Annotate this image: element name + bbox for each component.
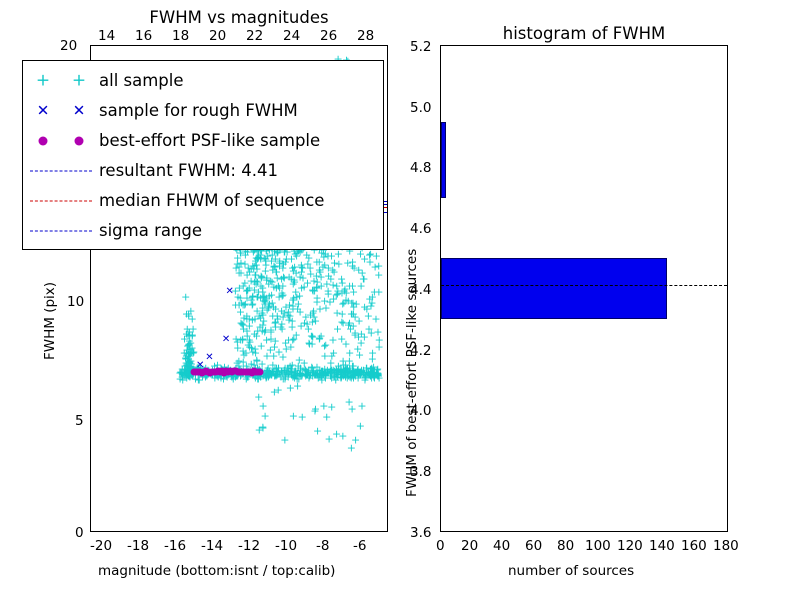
data-point: + [292, 329, 301, 340]
cross-icon: ✕ [37, 104, 50, 119]
data-point: + [239, 356, 248, 367]
data-point: + [258, 423, 267, 434]
right-x-tick-5: 100 [585, 538, 611, 554]
data-point: + [360, 253, 369, 264]
figure-canvas: FWHM vs magnitudes 14 16 18 20 22 24 26 … [0, 0, 800, 600]
dashed-line-icon [30, 201, 92, 202]
data-point: + [261, 266, 270, 277]
data-point: + [349, 361, 358, 372]
data-point: + [337, 372, 346, 383]
right-y-tick-8: 5.2 [410, 39, 431, 55]
data-point: + [289, 410, 298, 421]
data-point: + [302, 318, 311, 329]
right-y-tick-5: 4.6 [410, 221, 431, 237]
left-top-tick-3: 20 [209, 28, 226, 44]
left-y-axis-label: FWHM (pix) [42, 282, 58, 360]
dot-icon [39, 137, 48, 146]
data-point: + [288, 295, 297, 306]
data-point: + [322, 412, 331, 423]
data-point: + [253, 291, 262, 302]
right-y-tick-3: 4.2 [410, 343, 431, 359]
legend-item-median-fwhm[interactable]: median FHWM of sequence [23, 187, 383, 215]
legend-marker-psf-like [23, 127, 99, 155]
legend-item-psf-like[interactable]: best-effort PSF-like sample [23, 127, 383, 155]
data-point: + [337, 316, 346, 327]
data-point: + [344, 396, 353, 407]
left-top-tick-0: 14 [98, 28, 115, 44]
right-chart-title: histogram of FWHM [440, 24, 728, 43]
data-point: + [270, 386, 279, 397]
legend-label-median-fwhm: median FHWM of sequence [99, 193, 324, 210]
data-point: + [310, 405, 319, 416]
right-y-tick-6: 4.8 [410, 160, 431, 176]
data-point: + [321, 249, 330, 260]
data-point: + [359, 365, 368, 376]
resultant-fwhm-reference-line [441, 285, 727, 286]
rough-fwhm-point: ✕ [205, 353, 213, 363]
legend-label-rough-fwhm: sample for rough FWHM [99, 103, 298, 120]
legend-marker-median-fwhm [23, 187, 99, 215]
right-x-tick-0: 0 [436, 538, 445, 554]
psf-like-point [256, 369, 263, 376]
legend-marker-all-sample: + + [23, 67, 99, 95]
data-point: + [253, 277, 262, 288]
legend-marker-resultant-fwhm [23, 157, 99, 185]
data-point: + [295, 354, 304, 365]
data-point: + [271, 335, 280, 346]
left-x-tick-6: -8 [316, 538, 329, 554]
left-y-tick-20: 20 [60, 38, 77, 54]
data-point: + [254, 391, 263, 402]
legend-label-all-sample: all sample [99, 73, 184, 90]
left-x-tick-4: -12 [238, 538, 260, 554]
legend-marker-sigma-range [23, 217, 99, 245]
left-x-tick-2: -16 [164, 538, 186, 554]
histogram-bar [441, 122, 446, 198]
data-point: + [280, 434, 289, 445]
legend-item-rough-fwhm[interactable]: ✕ ✕ sample for rough FWHM [23, 97, 383, 125]
left-top-tick-2: 18 [172, 28, 189, 44]
data-point: + [293, 381, 302, 392]
data-point: + [343, 258, 352, 269]
data-point: + [365, 294, 374, 305]
left-top-tick-4: 22 [246, 28, 263, 44]
data-point: + [364, 311, 373, 322]
dot-icon [75, 137, 84, 146]
data-point: + [282, 369, 291, 380]
plus-icon: + [72, 73, 86, 90]
right-x-tick-8: 160 [681, 538, 707, 554]
data-point: + [349, 286, 358, 297]
data-point: + [182, 348, 191, 359]
right-y-tick-2: 4.0 [410, 403, 431, 419]
data-point: + [239, 300, 248, 311]
left-x-tick-5: -10 [275, 538, 297, 554]
data-point: + [311, 315, 320, 326]
data-point: + [286, 341, 295, 352]
right-x-tick-4: 80 [557, 538, 574, 554]
data-point: + [357, 400, 366, 411]
left-y-tick-0: 0 [75, 525, 84, 541]
right-x-tick-7: 140 [649, 538, 675, 554]
data-point: + [375, 334, 384, 345]
left-x-tick-1: -18 [127, 538, 149, 554]
left-top-tick-5: 24 [283, 28, 300, 44]
data-point: + [334, 259, 343, 270]
left-top-tick-1: 16 [135, 28, 152, 44]
data-point: + [247, 343, 256, 354]
data-point: + [181, 291, 190, 302]
legend-item-sigma-range[interactable]: sigma range [23, 217, 383, 245]
data-point: + [356, 420, 365, 431]
cross-icon: ✕ [73, 104, 86, 119]
data-point: + [283, 310, 292, 321]
data-point: + [357, 328, 366, 339]
data-point: + [328, 335, 337, 346]
data-point: + [313, 426, 322, 437]
data-point: + [309, 275, 318, 286]
left-y-tick-2: 10 [67, 294, 84, 310]
legend-item-resultant-fwhm[interactable]: resultant FWHM: 4.41 [23, 157, 383, 185]
right-y-tick-0: 3.6 [410, 525, 431, 541]
data-point: + [352, 299, 361, 310]
data-point: + [324, 263, 333, 274]
right-x-tick-6: 120 [617, 538, 643, 554]
data-point: + [308, 332, 317, 343]
data-point: + [252, 354, 261, 365]
data-point: + [233, 336, 242, 347]
data-point: + [296, 272, 305, 283]
right-histogram-plot [440, 45, 728, 532]
data-point: + [340, 283, 349, 294]
data-point: + [370, 371, 379, 382]
legend-label-sigma-range: sigma range [99, 223, 202, 240]
legend-label-resultant-fwhm: resultant FWHM: 4.41 [99, 163, 278, 180]
right-x-tick-3: 60 [525, 538, 542, 554]
data-point: + [351, 435, 360, 446]
histogram-bar [441, 258, 667, 319]
data-point: + [262, 373, 271, 384]
data-point: + [372, 250, 381, 261]
data-point: + [278, 262, 287, 273]
left-chart-title: FWHM vs magnitudes [90, 8, 388, 27]
data-point: + [185, 335, 194, 346]
right-y-tick-7: 5.0 [410, 100, 431, 116]
legend-marker-rough-fwhm: ✕ ✕ [23, 97, 99, 125]
left-x-tick-7: -6 [353, 538, 366, 554]
data-point: + [298, 411, 307, 422]
right-x-axis-label: number of sources [508, 563, 634, 579]
dash-dot-line-icon [30, 231, 92, 232]
rough-fwhm-point: ✕ [222, 335, 230, 345]
left-x-tick-0: -20 [90, 538, 112, 554]
data-point: + [374, 287, 383, 298]
legend-label-psf-like: best-effort PSF-like sample [99, 133, 320, 150]
data-point: + [308, 370, 317, 381]
left-top-tick-7: 28 [357, 28, 374, 44]
data-point: + [182, 308, 191, 319]
data-point: + [248, 261, 257, 272]
legend: + + all sample ✕ ✕ sample for rough FWHM… [22, 60, 384, 250]
right-x-tick-9: 180 [713, 538, 739, 554]
data-point: + [273, 370, 282, 381]
right-x-tick-2: 40 [493, 538, 510, 554]
left-x-tick-3: -14 [201, 538, 223, 554]
data-point: + [258, 303, 267, 314]
data-point: + [266, 324, 275, 335]
right-y-tick-4: 4.4 [410, 282, 431, 298]
data-point: + [374, 269, 383, 280]
data-point: + [324, 434, 333, 445]
right-x-tick-1: 20 [461, 538, 478, 554]
data-point: + [306, 262, 315, 273]
left-y-tick-1: 5 [75, 413, 84, 429]
plus-icon: + [36, 73, 50, 90]
rough-fwhm-point: ✕ [226, 287, 234, 297]
left-x-axis-label: magnitude (bottom:isnt / top:calib) [98, 563, 335, 579]
data-point: + [338, 431, 347, 442]
legend-item-all-sample[interactable]: + + all sample [23, 67, 383, 95]
right-y-tick-1: 3.8 [410, 464, 431, 480]
left-top-tick-6: 26 [320, 28, 337, 44]
dashed-line-icon [30, 171, 92, 172]
